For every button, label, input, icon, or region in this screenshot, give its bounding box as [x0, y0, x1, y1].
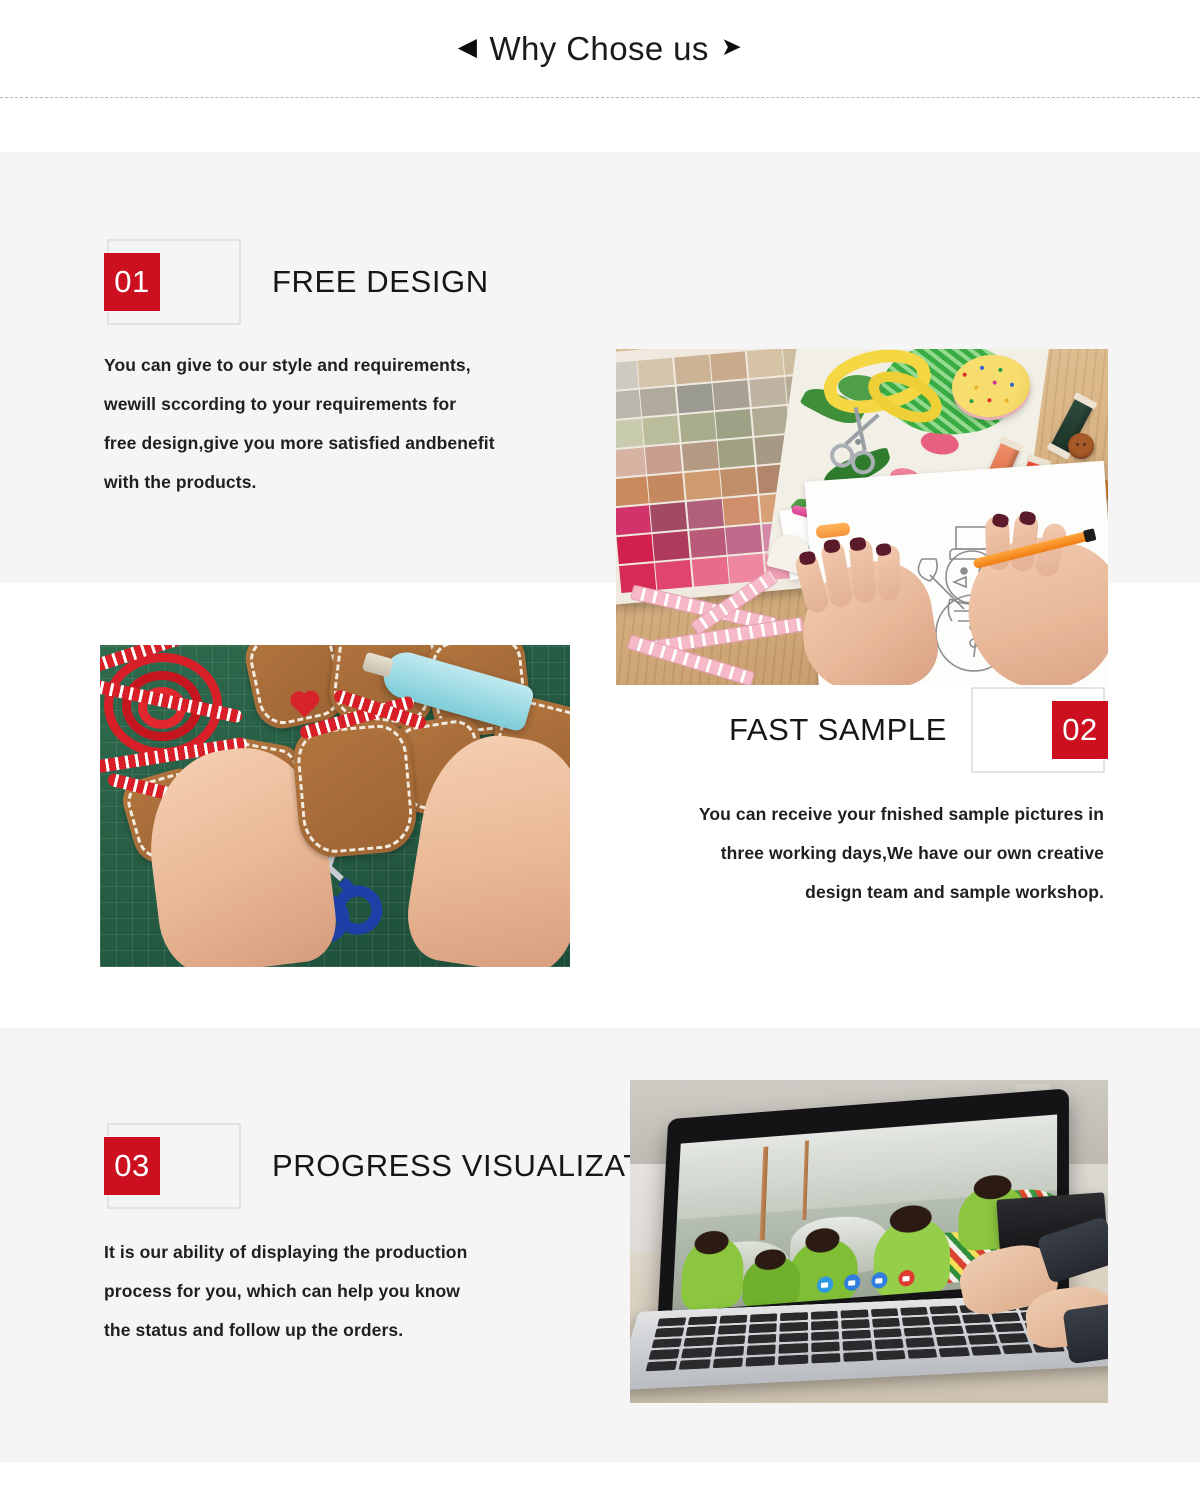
- section-3-body-line: the status and follow up the orders.: [104, 1311, 574, 1350]
- section-1-number-wrap: 01: [104, 239, 241, 325]
- page-title: ◀ Why Chose us ➤: [458, 30, 742, 68]
- microphone-button[interactable]: [871, 1272, 887, 1290]
- section-2-body-line: You can receive your fnished sample pict…: [624, 795, 1104, 834]
- page-title-text: Why Chose us: [489, 30, 708, 68]
- section-3-number-wrap: 03: [104, 1123, 241, 1209]
- section-2-body: You can receive your fnished sample pict…: [624, 795, 1104, 912]
- section-progress-visualization: 03 PROGRESS VISUALIZATION It is our abil…: [0, 1028, 1200, 1462]
- button-prop: [1068, 433, 1094, 459]
- section-2-body-line: design team and sample workshop.: [624, 873, 1104, 912]
- header-divider: [0, 97, 1200, 98]
- shirt-sleeve: [1063, 1302, 1108, 1364]
- section-1-body-line: with the products.: [104, 463, 574, 502]
- felt-ornament-crafting-photo: [100, 645, 570, 967]
- section-2-number-wrap: 02: [971, 687, 1108, 773]
- section-3-heading: 03 PROGRESS VISUALIZATION: [104, 1123, 700, 1209]
- section-3-body: It is our ability of displaying the prod…: [104, 1233, 574, 1350]
- felt-ornament-in-progress: [290, 718, 419, 860]
- section-1-body: You can give to our style and requiremen…: [104, 346, 574, 502]
- section-1-body-line: You can give to our style and requiremen…: [104, 346, 574, 385]
- camera-button[interactable]: [816, 1276, 833, 1294]
- section-2-body-line: three working days,We have our own creat…: [624, 834, 1104, 873]
- right-arrow-icon: ➤: [721, 35, 742, 60]
- end-call-button[interactable]: [898, 1269, 914, 1287]
- section-2-heading: FAST SAMPLE 02: [729, 687, 1108, 773]
- section-1-body-line: free design,give you more satisfied andb…: [104, 424, 574, 463]
- left-arrow-icon: ◀: [458, 35, 478, 60]
- section-3-body-line: process for you, which can help you know: [104, 1272, 574, 1311]
- signal-button[interactable]: [843, 1274, 860, 1292]
- laptop-video-call-photo: [630, 1080, 1108, 1403]
- section-1-title: FREE DESIGN: [272, 264, 489, 300]
- section-3-number-badge: 03: [104, 1137, 160, 1195]
- section-2-title: FAST SAMPLE: [729, 712, 947, 748]
- section-3-body-line: It is our ability of displaying the prod…: [104, 1233, 574, 1272]
- why-choose-us-page: ◀ Why Chose us ➤ 01 FREE DESIGN You can …: [0, 0, 1200, 1492]
- section-2-number-badge: 02: [1052, 701, 1108, 759]
- section-1-body-line: wewill sccording to your requirements fo…: [104, 385, 574, 424]
- section-1-heading: 01 FREE DESIGN: [104, 239, 489, 325]
- page-header: ◀ Why Chose us ➤: [0, 0, 1200, 97]
- section-free-design: 01 FREE DESIGN You can give to our style…: [0, 152, 1200, 583]
- section-1-number-badge: 01: [104, 253, 160, 311]
- section-fast-sample: FAST SAMPLE 02 You can receive your fnis…: [0, 583, 1200, 1028]
